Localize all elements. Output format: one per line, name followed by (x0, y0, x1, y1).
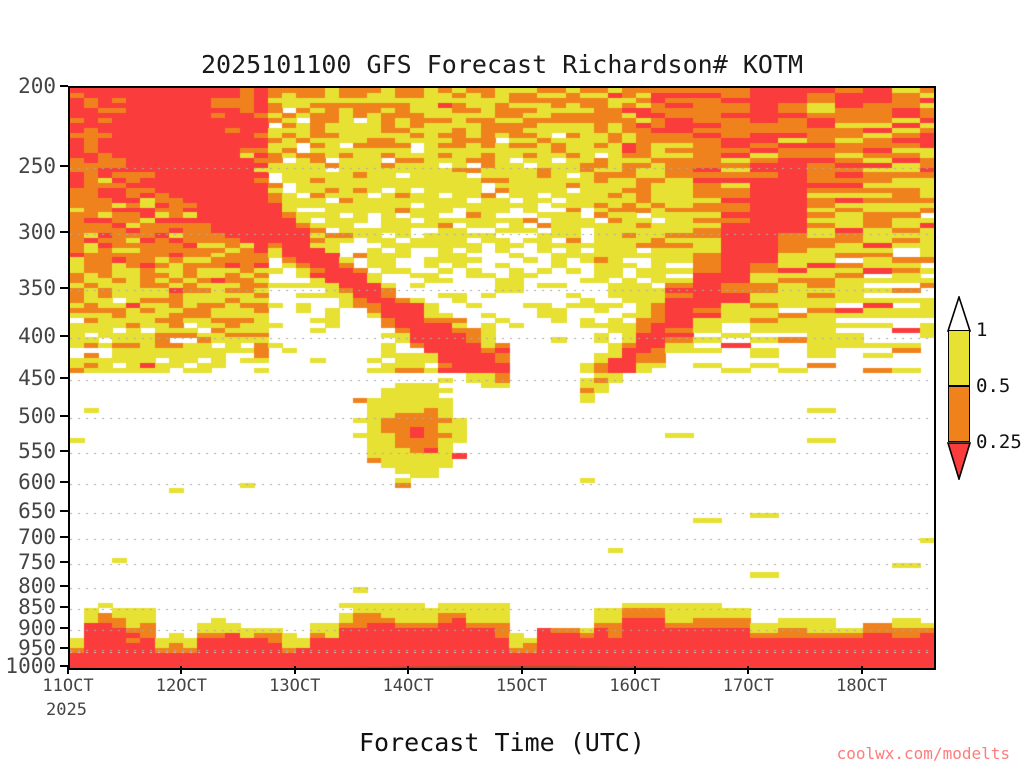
x-axis-tick-label: 13OCT (269, 676, 320, 696)
x-axis-tick (180, 666, 182, 674)
colorbar-label: 0.5 (976, 375, 1010, 397)
x-axis-tick (747, 666, 749, 674)
x-axis-year-label: 2025 (46, 700, 87, 720)
colorbar-segment (948, 330, 970, 386)
colorbar-label: 1 (976, 319, 987, 341)
x-axis-tick (407, 666, 409, 674)
x-axis-tick-label: 16OCT (609, 676, 660, 696)
x-axis-tick-label: 11OCT (42, 676, 93, 696)
x-axis-tick-label: 14OCT (383, 676, 434, 696)
x-axis-tick (294, 666, 296, 674)
x-axis-tick-label: 15OCT (496, 676, 547, 696)
x-axis-tick (861, 666, 863, 674)
x-axis-tick (67, 666, 69, 674)
x-axis: 11OCT12OCT13OCT14OCT15OCT16OCT17OCT18OCT (0, 0, 1024, 768)
x-axis-tick-label: 17OCT (723, 676, 774, 696)
colorbar-label: 0.25 (976, 431, 1022, 453)
x-axis-tick (521, 666, 523, 674)
watermark: coolwx.com/modelts (837, 744, 1010, 763)
colorbar-arrow-up (946, 296, 972, 332)
colorbar: 10.50.25 (946, 296, 972, 468)
x-axis-tick-label: 18OCT (836, 676, 887, 696)
x-axis-tick-label: 12OCT (156, 676, 207, 696)
x-axis-tick (634, 666, 636, 674)
colorbar-arrow-down (946, 442, 972, 480)
colorbar-segment (948, 386, 970, 442)
chart-root: 2025101100 GFS Forecast Richardson# KOTM… (0, 0, 1024, 768)
